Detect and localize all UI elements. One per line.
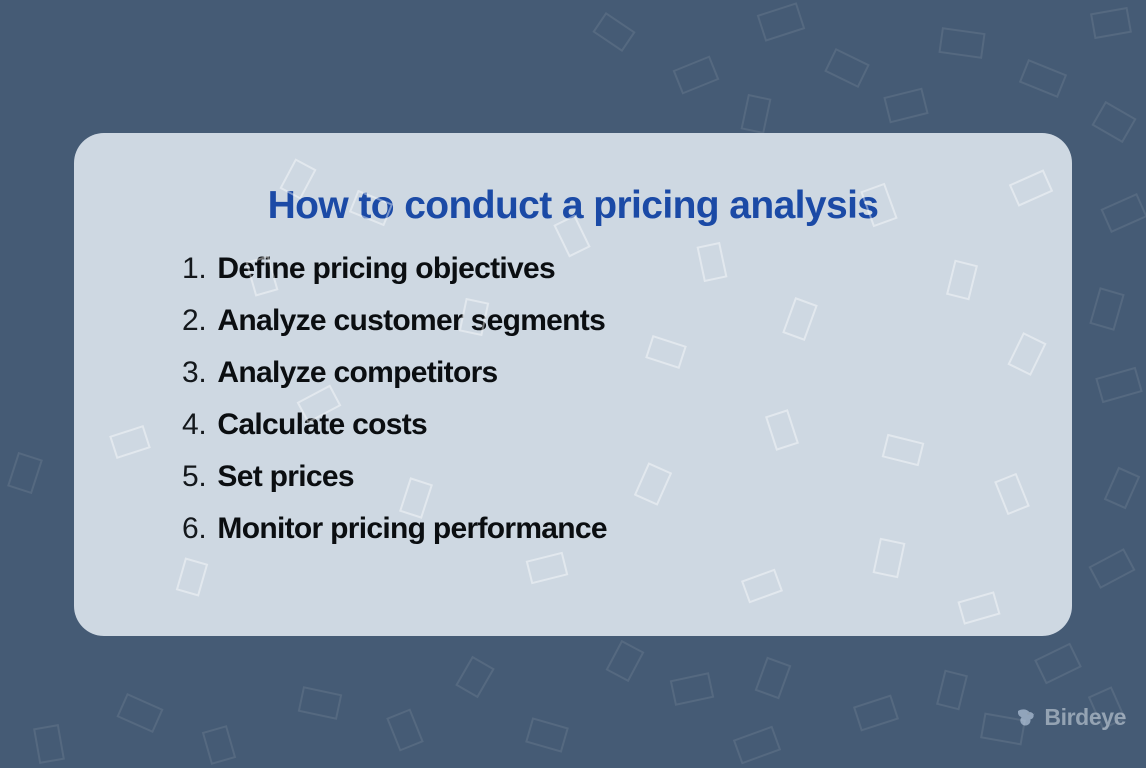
pattern-rectangle (673, 55, 720, 94)
pattern-rectangle (1088, 548, 1135, 589)
pattern-rectangle (883, 88, 928, 124)
pattern-rectangle (455, 656, 495, 698)
bird-icon (1013, 705, 1039, 731)
step-number: 3. (182, 347, 206, 399)
brand-name: Birdeye (1044, 704, 1126, 731)
step-number: 4. (182, 399, 206, 451)
step-number: 6. (182, 503, 206, 555)
pattern-rectangle (1090, 7, 1132, 39)
step-label: Define pricing objectives (217, 243, 555, 295)
pattern-rectangle (741, 94, 772, 134)
pattern-rectangle (525, 717, 569, 752)
step-number: 2. (182, 295, 206, 347)
list-item: 2.Analyze customer segments (182, 295, 607, 347)
pattern-rectangle (936, 670, 968, 711)
list-item: 5.Set prices (182, 451, 607, 503)
pattern-rectangle (1089, 287, 1124, 331)
brand-watermark: Birdeye (1013, 704, 1126, 731)
pattern-rectangle (1100, 193, 1146, 233)
step-label: Monitor pricing performance (217, 503, 606, 555)
pattern-rectangle (1091, 101, 1136, 143)
pattern-rectangle (1104, 467, 1141, 510)
pattern-rectangle (1095, 367, 1143, 404)
step-number: 5. (182, 451, 206, 503)
pattern-rectangle (757, 2, 806, 42)
step-label: Calculate costs (217, 399, 427, 451)
pattern-rectangle (1019, 59, 1067, 98)
list-item: 3.Analyze competitors (182, 347, 607, 399)
pattern-rectangle (733, 726, 781, 765)
pattern-rectangle (938, 27, 985, 59)
pattern-rectangle (592, 12, 635, 52)
pattern-rectangle (606, 640, 645, 682)
content-card: How to conduct a pricing analysis 1.Defi… (74, 133, 1072, 636)
step-label: Analyze competitors (217, 347, 497, 399)
pattern-rectangle (1034, 643, 1082, 685)
list-item: 6.Monitor pricing performance (182, 503, 607, 555)
pattern-rectangle (386, 708, 424, 751)
pattern-rectangle (670, 672, 715, 706)
pattern-rectangle (298, 686, 343, 720)
infographic-canvas: How to conduct a pricing analysis 1.Defi… (0, 0, 1146, 768)
pattern-rectangle (33, 724, 65, 764)
step-label: Set prices (217, 451, 353, 503)
page-title: How to conduct a pricing analysis (74, 183, 1072, 230)
pattern-rectangle (853, 694, 899, 731)
pattern-rectangle (202, 725, 236, 765)
pattern-rectangle (7, 452, 43, 494)
pattern-rectangle (824, 48, 870, 88)
list-item: 4.Calculate costs (182, 399, 607, 451)
step-label: Analyze customer segments (217, 295, 605, 347)
pattern-rectangle (755, 657, 792, 700)
pattern-rectangle (116, 693, 163, 733)
step-number: 1. (182, 243, 206, 295)
steps-list: 1.Define pricing objectives2.Analyze cus… (182, 243, 607, 555)
list-item: 1.Define pricing objectives (182, 243, 607, 295)
